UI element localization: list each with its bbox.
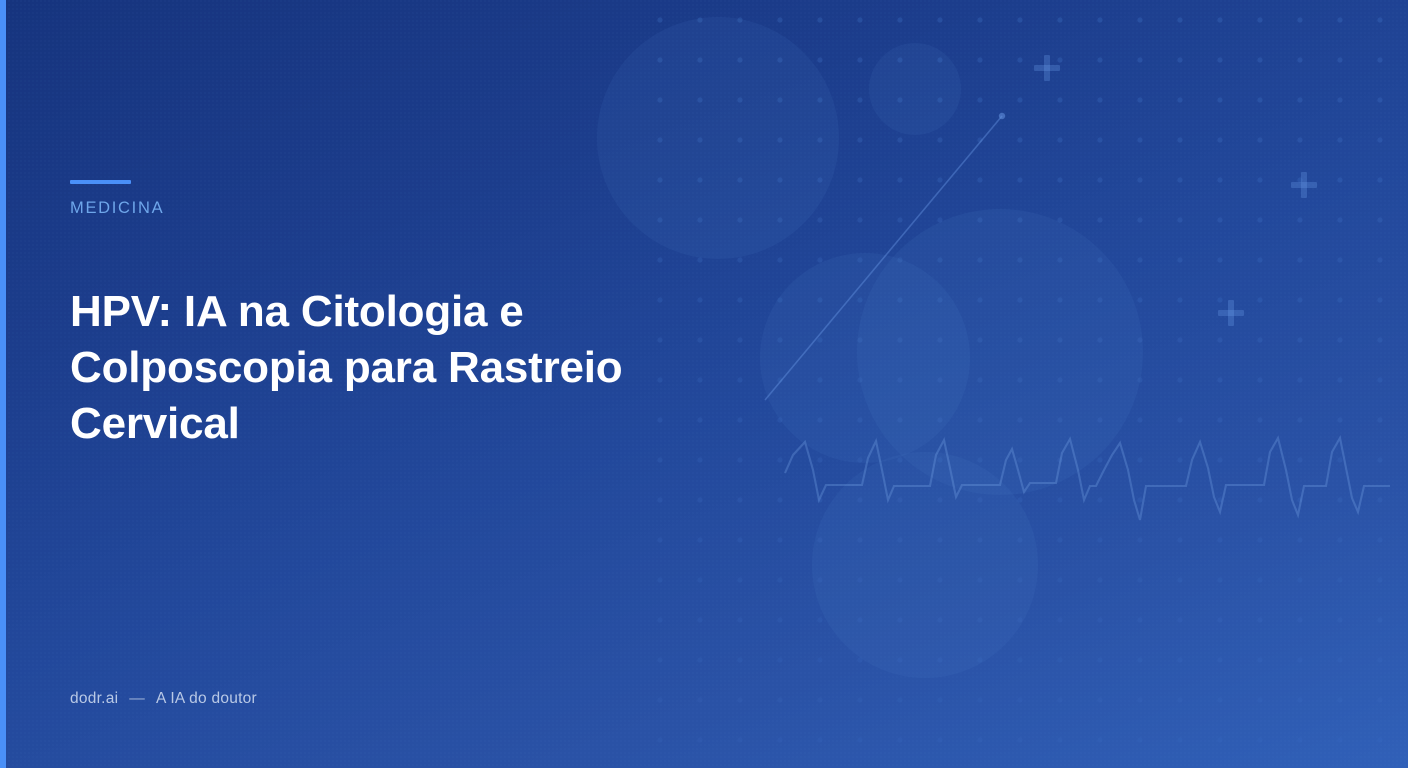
left-accent-bar (0, 0, 6, 768)
category-kicker: MEDICINA (70, 199, 164, 218)
circle-cluster-right (857, 209, 1143, 495)
medical-cross-1 (1034, 55, 1060, 81)
connector-line (765, 113, 1005, 400)
circle-cluster-mid (760, 253, 970, 463)
brand-name: dodr.ai (70, 690, 118, 708)
circle-cluster-bottom (812, 452, 1038, 678)
ecg-waveform (785, 438, 1390, 520)
footer: dodr.ai — A IA do doutor (70, 690, 257, 708)
medical-cross-3 (1218, 300, 1244, 326)
brand-tagline: A IA do doutor (156, 690, 257, 708)
dot-grid-pattern (640, 0, 1408, 768)
card-content: MEDICINA HPV: IA na Citologia e Colposco… (70, 0, 710, 768)
page-title: HPV: IA na Citologia e Colposcopia para … (70, 284, 670, 452)
medical-cross-2 (1291, 172, 1317, 198)
article-card: MEDICINA HPV: IA na Citologia e Colposco… (0, 0, 1408, 768)
kicker-rule (70, 180, 131, 184)
circle-small-top (869, 43, 961, 135)
footer-separator: — (129, 690, 145, 708)
